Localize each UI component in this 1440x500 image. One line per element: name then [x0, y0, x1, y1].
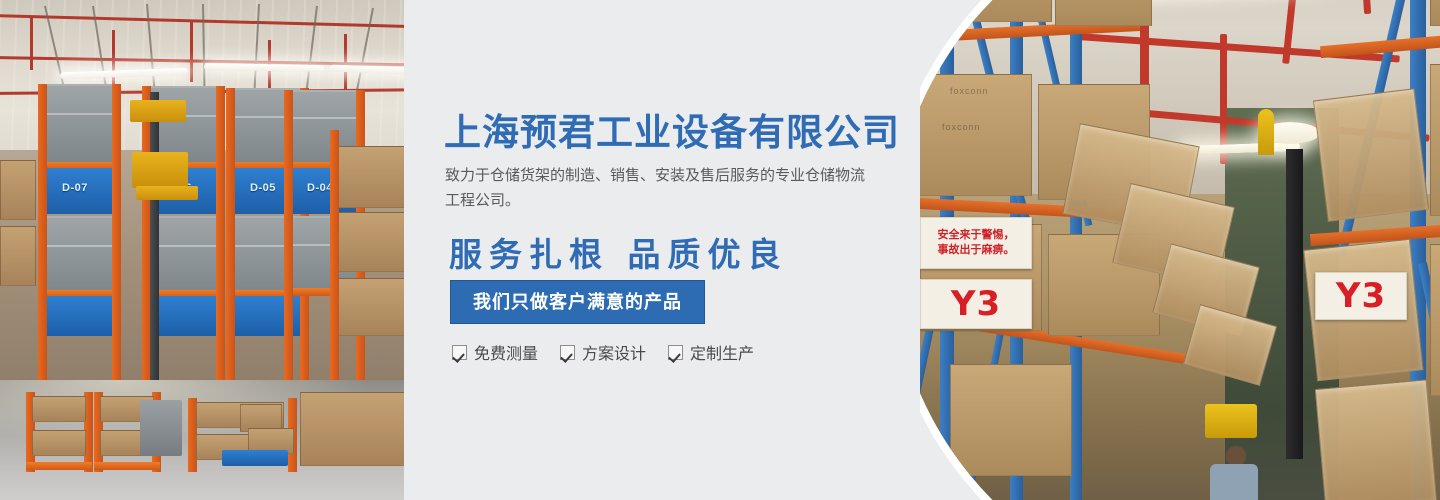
- ceiling-pipe-drop: [30, 16, 33, 70]
- feature-label: 方案设计: [582, 340, 646, 364]
- forklift-boom: [130, 100, 186, 122]
- driver-head: [1226, 446, 1246, 466]
- photo-inner: foxconn foxconn foxconn foxconn: [920, 0, 1440, 500]
- carton-stack: [338, 278, 404, 336]
- rack-upright: [330, 130, 339, 380]
- company-description: 致力于仓储货架的制造、销售、安装及售后服务的专业仓储物流工程公司。: [445, 163, 865, 213]
- forklift-overhead-guard: [1205, 404, 1257, 438]
- carton-brand-label: foxconn: [950, 86, 989, 96]
- feature-label: 免费测量: [474, 340, 538, 364]
- carton: [32, 396, 86, 422]
- forklift-cab: [132, 152, 188, 188]
- pallet-jack: [140, 400, 182, 456]
- feature-label: 定制生产: [690, 340, 754, 364]
- grey-crate: [46, 84, 112, 164]
- rack-beam: [26, 462, 92, 470]
- left-warehouse-photo: D-07 D-06 D-05: [0, 0, 404, 500]
- rack-beam: [94, 462, 160, 470]
- wrapped-pallet: [1315, 379, 1437, 500]
- aisle-sign-label: Y3: [951, 284, 1001, 324]
- feature-item: 方案设计: [560, 340, 646, 364]
- driver-body: [1210, 464, 1258, 500]
- right-warehouse-photo: foxconn foxconn foxconn foxconn: [920, 0, 1440, 500]
- slogan: 服务扎根 品质优良: [449, 228, 788, 276]
- rack-upright: [284, 90, 293, 390]
- bin-label: D-04: [307, 182, 333, 194]
- rack-upright: [112, 84, 121, 384]
- forklift-mast: [150, 92, 159, 388]
- carton-pallet: [1055, 0, 1152, 26]
- carton-pallet: [950, 364, 1072, 476]
- rack-upright: [38, 84, 47, 384]
- carton-stack: [0, 160, 36, 220]
- floor-rack: [26, 392, 92, 472]
- forklift-mast: [1286, 149, 1303, 459]
- company-headline: 上海预君工业设备有限公司: [444, 102, 900, 156]
- aisle-sign: Y3: [1315, 272, 1407, 320]
- checkbox-checked-icon: [452, 345, 467, 360]
- bin-label: D-05: [250, 182, 276, 194]
- safety-sign-line-1: 安全来于警惕，: [938, 228, 1015, 243]
- carton-pallet: [1430, 0, 1440, 26]
- wrapped-pallet: [1313, 88, 1429, 222]
- grey-crate: [46, 216, 112, 294]
- grey-crate: [150, 216, 216, 294]
- carton-pallet: [1430, 244, 1440, 396]
- ceiling-pipe-drop: [190, 22, 193, 82]
- checkbox-checked-icon: [560, 345, 575, 360]
- carton-stack: [300, 392, 404, 466]
- blue-rack-panel: D-07: [40, 168, 118, 214]
- carton-brand-label: foxconn: [942, 122, 981, 132]
- carton-pallet: [940, 0, 1052, 22]
- blue-rack-panel: [40, 296, 118, 336]
- forklift-carriage: [136, 186, 198, 200]
- blue-pallet: [222, 450, 288, 466]
- feature-item: 免费测量: [452, 340, 538, 364]
- checkbox-checked-icon: [668, 345, 683, 360]
- bin-label: D-07: [62, 182, 88, 194]
- carton-stack: [338, 146, 404, 208]
- aisle-sign-label: Y3: [1336, 276, 1386, 316]
- rack-upright: [226, 88, 235, 388]
- right-photo-wrapper: foxconn foxconn foxconn foxconn: [920, 0, 1440, 500]
- rack-upright: [216, 86, 225, 386]
- feature-item: 定制生产: [668, 340, 754, 364]
- carton: [32, 430, 86, 456]
- hero-banner: D-07 D-06 D-05: [0, 0, 1440, 500]
- safety-sign-line-2: 事故出于麻痹。: [938, 243, 1015, 258]
- cta-button[interactable]: 我们只做客户满意的产品: [450, 280, 705, 324]
- feature-list: 免费测量 方案设计 定制生产: [452, 340, 754, 364]
- safety-sign: 安全来于警惕， 事故出于麻痹。: [920, 217, 1032, 269]
- forklift-antenna: [1258, 109, 1274, 155]
- carton-stack: [0, 226, 36, 286]
- aisle-sign: Y3: [920, 279, 1032, 329]
- carton-pallet: [1430, 64, 1440, 216]
- carton-stack: [338, 212, 404, 272]
